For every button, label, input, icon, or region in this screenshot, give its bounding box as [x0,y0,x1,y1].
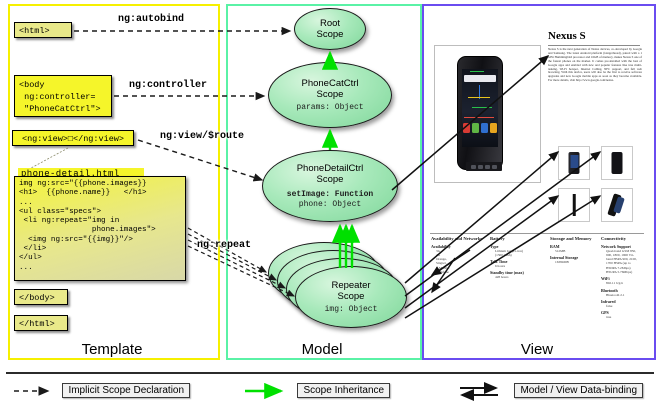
scope-root-title: RootScope [317,18,344,40]
spec-heading: Storage and Memory [550,236,602,242]
spec-value: 16384MB [550,260,602,264]
spec-group-storage-and-memory: Storage and Memory RAM 512MB Internal St… [550,236,602,264]
body-close-tag-box: </body> [14,289,68,305]
double-arrow-icon [458,383,510,399]
legend-implicit-scope-declaration: Implicit Scope Declaration [12,382,190,398]
scope-phonedetailctrl-prop-phone: phone: Object [299,200,361,210]
scope-phonedetailctrl-title: PhoneDetailCtrlScope [297,163,364,185]
column-label-model: Model [226,341,418,358]
title-rule [548,45,640,46]
spec-value: 428 hours [490,275,546,279]
spec-group-connectivity: Connectivity Network Support Quad-band G… [601,236,651,320]
legend-data-binding: Model / View Data-binding [458,382,643,398]
scope-repeater-prop-img: img: Object [325,305,378,315]
spec-value: 512MB [550,249,602,253]
legend-divider [6,372,654,374]
scope-root: RootScope [294,8,366,50]
legend-scope-inheritance: Scope Inheritance [243,382,390,398]
diagram-canvas: <html> <body ng:controller= "PhoneCatCtr… [0,0,660,420]
legend-label: Model / View Data-binding [514,383,643,398]
spec-group-availability-and-networks: Availability and Networks Availability 3… [431,236,483,274]
spec-heading: Availability and Networks [431,236,483,242]
phone-hero-image [434,45,541,183]
code-panel: img ng:src="{{phone.images}} <h1> {{phon… [14,176,186,281]
scope-phonecatctrl: PhoneCatCtrlScope params: Object [268,62,392,128]
spec-value: Bluetooth 2.1 [601,293,651,297]
phone-search-bar [464,75,496,82]
spec-value: 3G 4G Orange, Singtel, T-Mobile, Vodafon… [431,249,483,275]
spec-value: 802.11 b/g/n [601,281,651,285]
spec-heading: Connectivity [601,236,651,242]
scope-phonedetailctrl: PhoneDetailCtrlScope setImage: Function … [262,150,398,222]
legend-label: Implicit Scope Declaration [62,383,190,398]
body-tag-box: <body ng:controller= "PhoneCatCtrl"> [14,75,112,117]
spec-group-battery: Battery Type Lithium Ion (Li-Ion) (1500 … [490,236,546,280]
scope-phonedetailctrl-prop-setimage: setImage: Function [287,190,373,200]
html-close-tag-box: </html> [14,315,68,331]
green-arrow-icon [243,383,293,399]
phone-body [457,56,503,170]
legend-label: Scope Inheritance [297,383,390,398]
html-tag-box: <html> [14,22,72,38]
thumbnail-back[interactable] [601,146,633,180]
spec-rule [430,233,644,234]
phone-screen [462,69,498,147]
label-ng-repeat: ng:repeat [197,240,251,251]
scope-phonecatctrl-prop-params: params: Object [296,103,363,113]
spec-value: Quad-band GSM 850, 900, 1800, 1900 Tri- … [601,249,651,275]
column-label-view: View [422,341,652,358]
product-title: Nexus S [548,30,586,42]
spec-value: 6 hours [490,264,546,268]
phone-navbar [466,162,502,171]
dashed-arrow-icon [12,383,58,399]
spec-heading: Battery [490,236,546,242]
spec-value: Lithium Ion (Li-Ion) (1500 mAh) [490,249,546,258]
scope-repeater-title: RepeaterScope [331,280,370,302]
product-description: Nexus S is the next generation of Nexus … [548,48,642,83]
column-label-template: Template [8,341,216,358]
label-ng-autobind: ng:autobind [118,14,184,25]
thumbnail-angled[interactable] [601,188,633,222]
thumbnail-side[interactable] [558,188,590,222]
phone-dock [463,123,497,135]
spec-value: false [601,304,651,308]
ngview-tag-box: <ng:view>□</ng:view> [12,130,134,146]
scope-phonecatctrl-title: PhoneCatCtrlScope [301,78,358,100]
thumbnail-front-screen[interactable] [558,146,590,180]
scope-repeater: RepeaterScope img: Object [295,266,407,328]
label-ng-view-route: ng:view/$route [160,131,244,142]
spec-value: true [601,315,651,319]
label-ng-controller: ng:controller [129,80,207,91]
